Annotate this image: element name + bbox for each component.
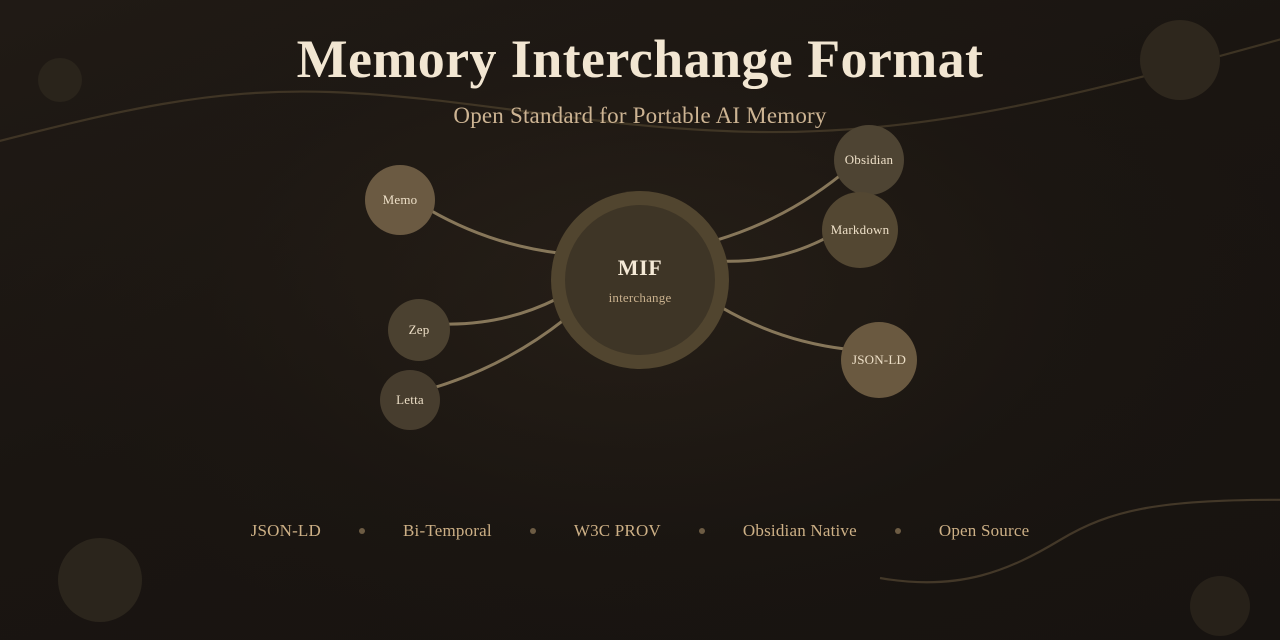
feature-item: JSON-LD <box>251 521 321 541</box>
node-memo-label: Memo <box>383 192 418 208</box>
edge-center-markdown <box>723 238 827 262</box>
node-letta-label: Letta <box>396 392 424 408</box>
node-markdown-label: Markdown <box>831 222 890 238</box>
slide-canvas: Memory Interchange Format Open Standard … <box>0 0 1280 640</box>
edge-center-jsonld <box>721 307 847 349</box>
node-memo[interactable]: Memo <box>365 165 435 235</box>
node-markdown[interactable]: Markdown <box>822 192 898 268</box>
node-mif-sublabel: interchange <box>609 290 672 306</box>
feature-item: Obsidian Native <box>743 521 857 541</box>
node-jsonld-label: JSON-LD <box>852 352 906 368</box>
node-jsonld[interactable]: JSON-LD <box>841 322 917 398</box>
node-letta[interactable]: Letta <box>380 370 440 430</box>
node-zep-label: Zep <box>409 322 430 338</box>
node-mif-label: MIF <box>618 255 663 281</box>
feature-separator-dot <box>359 528 365 534</box>
node-graph: MIF interchange MemoZepLettaObsidianMark… <box>0 0 1280 640</box>
node-obsidian-label: Obsidian <box>845 152 894 168</box>
feature-separator-dot <box>530 528 536 534</box>
node-obsidian[interactable]: Obsidian <box>834 125 904 195</box>
node-mif[interactable]: MIF interchange <box>565 205 715 355</box>
edge-memo-center <box>429 210 559 253</box>
feature-separator-dot <box>895 528 901 534</box>
feature-item: W3C PROV <box>574 521 661 541</box>
feature-item: Open Source <box>939 521 1029 541</box>
edge-zep-center <box>445 299 557 324</box>
feature-separator-dot <box>699 528 705 534</box>
edge-letta-center <box>433 319 565 388</box>
feature-list: JSON-LDBi-TemporalW3C PROVObsidian Nativ… <box>0 521 1280 541</box>
feature-item: Bi-Temporal <box>403 521 492 541</box>
node-zep[interactable]: Zep <box>388 299 450 361</box>
